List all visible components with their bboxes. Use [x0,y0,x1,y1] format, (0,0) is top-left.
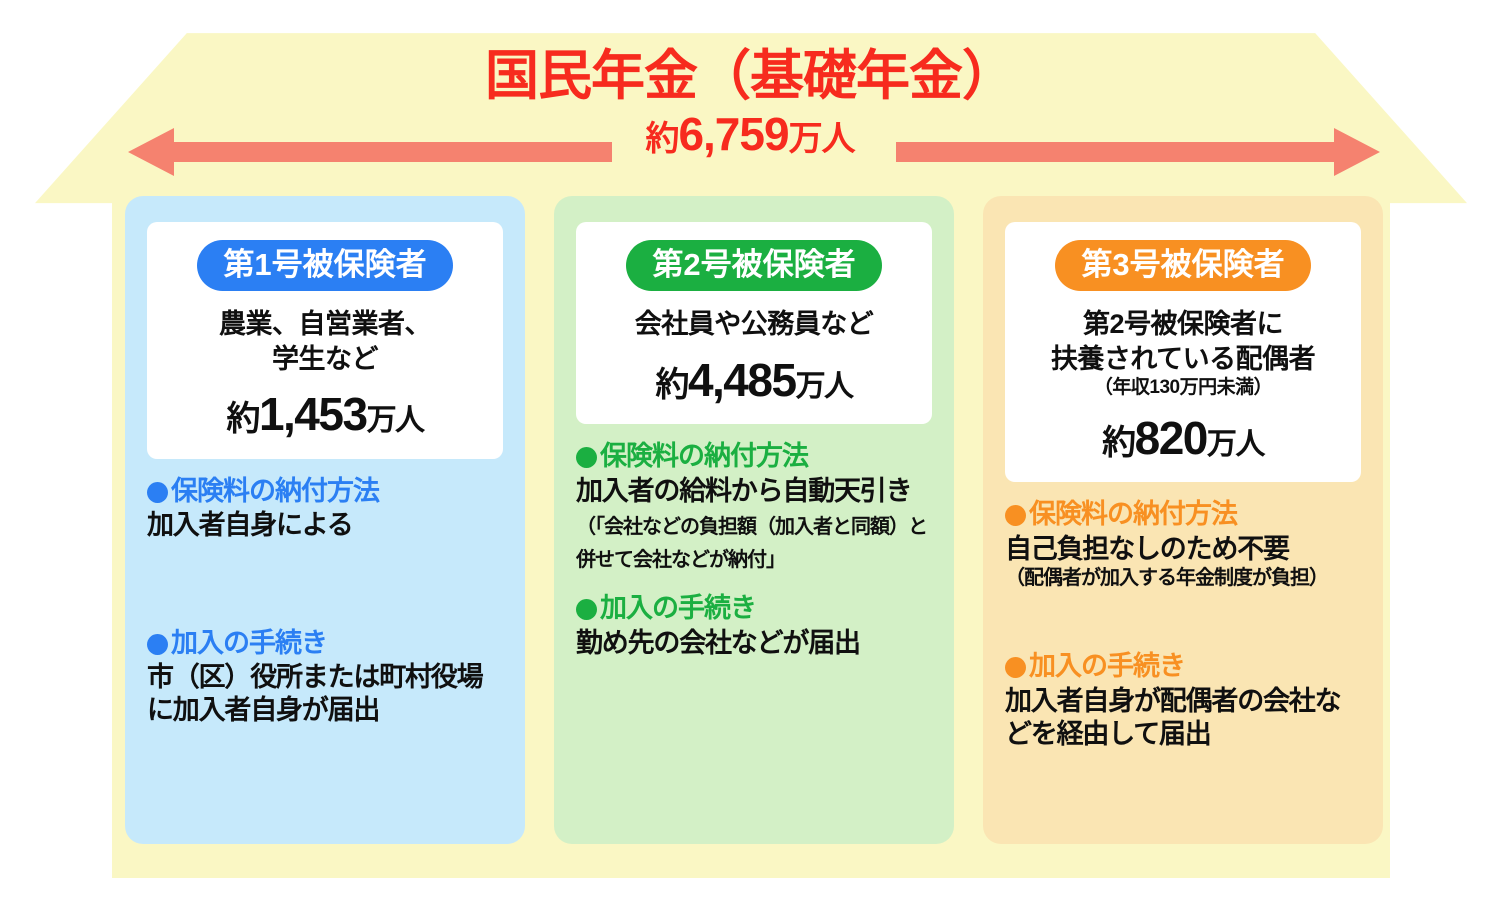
bullet-icon [147,634,168,655]
description-line: 会社員や公務員など [590,307,918,342]
figure-number: 4,485 [688,354,796,406]
payment-section-2: 保険料の納付方法 加入者の給料から自動天引き（「会社などの負担額（加入者と同額）… [576,440,932,592]
figure-category-2: 約4,485万人 [590,356,918,404]
procedure-heading-label: 加入の手続き [1029,650,1185,684]
summary-card-2: 第2号被保険者 会社員や公務員など 約4,485万人 [576,222,932,424]
figure-category-1: 約1,453万人 [161,390,489,438]
details-category-1: 保険料の納付方法 加入者自身による 加入の手続き 市（区）役所または町村役場に加… [147,475,503,824]
column-category-2: 第2号被保険者 会社員や公務員など 約4,485万人 保険料の納付方法 加入者の… [554,196,954,844]
figure-unit: 万人 [367,404,424,437]
procedure-heading-2: 加入の手続き [576,592,932,626]
bullet-icon [147,482,168,503]
procedure-heading-label: 加入の手続き [600,592,756,626]
details-category-2: 保険料の納付方法 加入者の給料から自動天引き（「会社などの負担額（加入者と同額）… [576,440,932,824]
payment-section-3: 保険料の納付方法 自己負担なしのため不要 （配偶者が加入する年金制度が負担） [1005,498,1361,650]
figure-number: 820 [1135,412,1207,464]
payment-heading-2: 保険料の納付方法 [576,440,932,474]
procedure-body-1: 市（区）役所または町村役場に加入者自身が届出 [147,661,503,727]
bullet-icon [1005,657,1026,678]
column-category-3: 第3号被保険者 第2号被保険者に 扶養されている配偶者 （年収130万円未満） … [983,196,1383,844]
description-category-2: 会社員や公務員など [590,307,918,342]
infographic-root: 国民年金（基礎年金） 約6,759万人 第1号被保険者 農業、自営業者、 学生な… [0,0,1500,905]
procedure-heading-1: 加入の手続き [147,627,503,661]
bullet-icon [576,599,597,620]
figure-prefix: 約 [655,366,688,404]
payment-body-2: 加入者の給料から自動天引き（「会社などの負担額（加入者と同額）と併せて会社などが… [576,475,932,574]
payment-heading-label: 保険料の納付方法 [600,440,808,474]
description-line: 学生など [161,342,489,377]
badge-category-3: 第3号被保険者 [1055,240,1310,291]
payment-subnote-3: （配偶者が加入する年金制度が負担） [1005,566,1361,590]
procedure-section-3: 加入の手続き 加入者自身が配偶者の会社などを経由して届出 [1005,650,1361,751]
figure-prefix: 約 [1102,424,1135,462]
procedure-body-2: 勤め先の会社などが届出 [576,627,932,660]
figure-category-3: 約820万人 [1019,414,1347,462]
figure-prefix: 約 [226,400,259,438]
procedure-body-3: 加入者自身が配偶者の会社などを経由して届出 [1005,685,1361,751]
payment-body-main: 加入者の給料から自動天引き [576,476,911,506]
bullet-icon [576,447,597,468]
payment-heading-label: 保険料の納付方法 [1029,498,1237,532]
summary-card-3: 第3号被保険者 第2号被保険者に 扶養されている配偶者 （年収130万円未満） … [1005,222,1361,482]
description-line: 扶養されている配偶者 [1019,342,1347,377]
column-category-1: 第1号被保険者 農業、自営業者、 学生など 約1,453万人 保険料の納付方法 … [125,196,525,844]
description-line: 農業、自営業者、 [161,307,489,342]
bullet-icon [1005,505,1026,526]
payment-heading-1: 保険料の納付方法 [147,475,503,509]
procedure-section-1: 加入の手続き 市（区）役所または町村役場に加入者自身が届出 [147,627,503,728]
procedure-heading-label: 加入の手続き [171,627,327,661]
category-columns: 第1号被保険者 農業、自営業者、 学生など 約1,453万人 保険料の納付方法 … [125,196,1383,844]
payment-heading-label: 保険料の納付方法 [171,475,379,509]
payment-body-detail: （「会社などの負担額（加入者と同額）と併せて会社などが納付」 [576,516,927,571]
income-note-category-3: （年収130万円未満） [1019,377,1347,400]
procedure-heading-3: 加入の手続き [1005,650,1361,684]
badge-category-2: 第2号被保険者 [626,240,881,291]
description-category-3: 第2号被保険者に 扶養されている配偶者 [1019,307,1347,376]
summary-card-1: 第1号被保険者 農業、自営業者、 学生など 約1,453万人 [147,222,503,459]
figure-unit: 万人 [796,370,853,403]
badge-category-1: 第1号被保険者 [197,240,452,291]
figure-unit: 万人 [1207,428,1264,461]
procedure-section-2: 加入の手続き 勤め先の会社などが届出 [576,592,932,660]
description-line: 第2号被保険者に [1019,307,1347,342]
payment-heading-3: 保険料の納付方法 [1005,498,1361,532]
payment-section-1: 保険料の納付方法 加入者自身による [147,475,503,627]
payment-body-3: 自己負担なしのため不要 [1005,533,1361,566]
payment-body-1: 加入者自身による [147,509,503,542]
details-category-3: 保険料の納付方法 自己負担なしのため不要 （配偶者が加入する年金制度が負担） 加… [1005,498,1361,824]
figure-number: 1,453 [259,388,367,440]
description-category-1: 農業、自営業者、 学生など [161,307,489,376]
